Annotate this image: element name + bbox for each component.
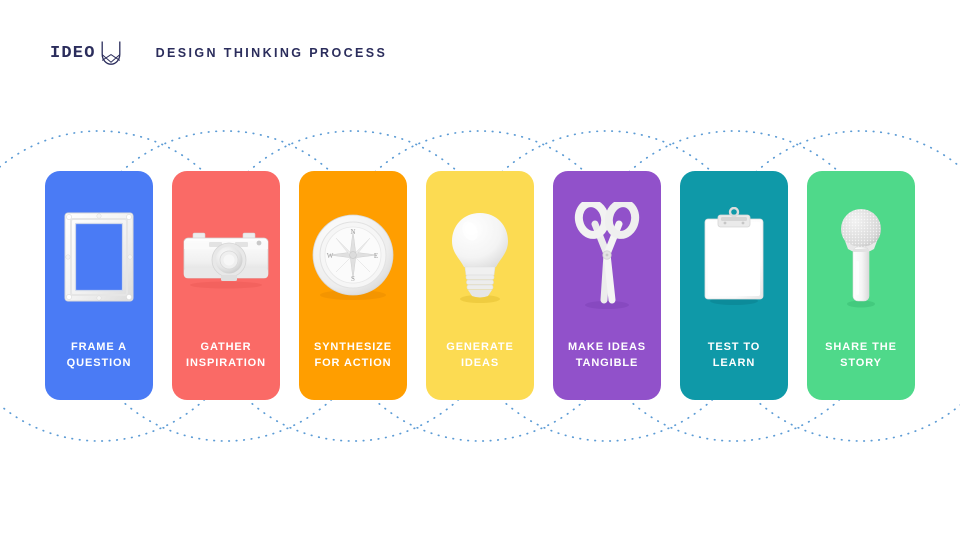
compass-south-label: S — [351, 275, 355, 283]
compass-icon: N S E W — [299, 199, 407, 314]
clipboard-icon — [680, 199, 788, 314]
process-step-card-make-ideas-tangible[interactable]: MAKE IDEAS TANGIBLE — [553, 171, 661, 400]
process-step-label: FRAME A QUESTION — [49, 339, 149, 371]
page-title: DESIGN THINKING PROCESS — [156, 46, 388, 60]
process-step-label: TEST TO LEARN — [684, 339, 784, 371]
ideo-u-logo-icon — [100, 40, 122, 66]
slide-canvas: IDEO DESIGN THINKING PROCESS — [0, 0, 960, 540]
process-step-card-share-the-story[interactable]: SHARE THE STORY — [807, 171, 915, 400]
process-step-label: GENERATE IDEAS — [430, 339, 530, 371]
compass-east-label: E — [374, 252, 378, 260]
process-step-label: GATHER INSPIRATION — [176, 339, 276, 371]
process-step-label: SYNTHESIZE FOR ACTION — [303, 339, 403, 371]
process-step-card-test-to-learn[interactable]: TEST TO LEARN — [680, 171, 788, 400]
ideo-u-logo[interactable]: IDEO — [50, 40, 122, 66]
process-step-card-gather-inspiration[interactable]: GATHER INSPIRATION — [172, 171, 280, 400]
process-step-card-synthesize-for-action[interactable]: N S E W SYNTHESIZE FOR ACTION — [299, 171, 407, 400]
process-step-label: MAKE IDEAS TANGIBLE — [557, 339, 657, 371]
lightbulb-icon — [426, 199, 534, 314]
microphone-icon — [807, 199, 915, 314]
scissors-icon — [553, 199, 661, 314]
picture-frame-icon — [45, 199, 153, 314]
process-step-label: SHARE THE STORY — [811, 339, 911, 371]
logo-wordmark: IDEO — [50, 45, 96, 62]
header: IDEO DESIGN THINKING PROCESS — [50, 38, 387, 68]
compass-west-label: W — [327, 252, 334, 260]
camera-icon — [172, 199, 280, 314]
process-steps: FRAME A QUESTION — [45, 171, 915, 400]
process-step-card-frame-a-question[interactable]: FRAME A QUESTION — [45, 171, 153, 400]
process-step-card-generate-ideas[interactable]: GENERATE IDEAS — [426, 171, 534, 400]
compass-north-label: N — [350, 228, 355, 236]
